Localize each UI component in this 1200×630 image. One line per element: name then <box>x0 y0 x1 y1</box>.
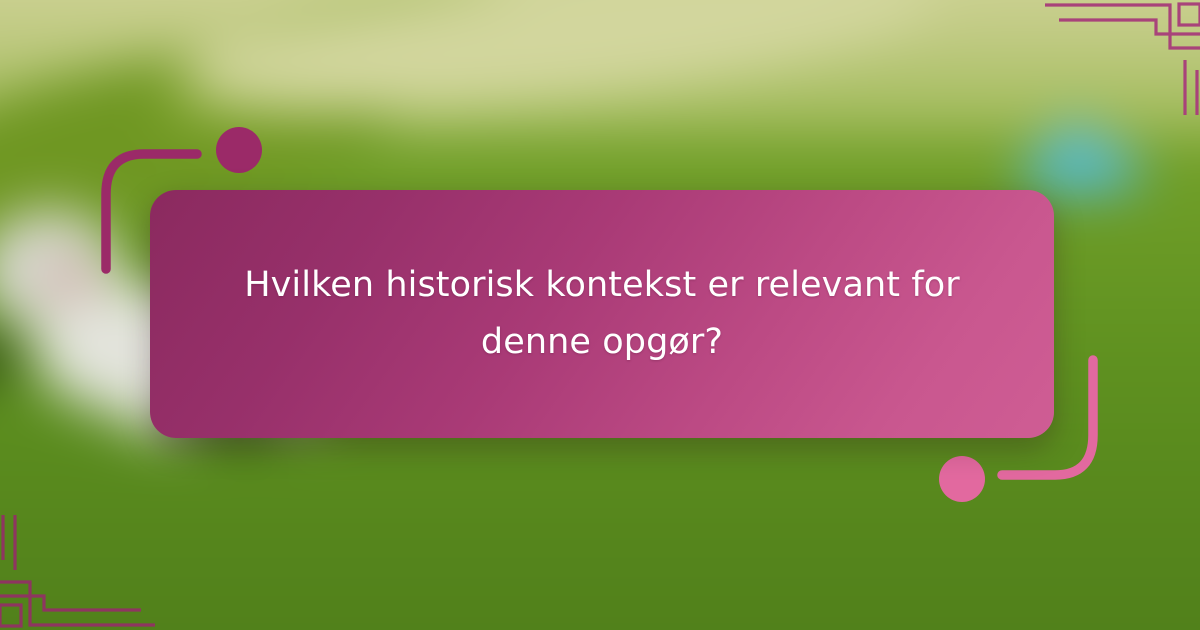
question-text: Hvilken historisk kontekst er relevant f… <box>206 257 998 370</box>
accent-dot-top-left-icon <box>216 127 262 173</box>
background-tent-glow <box>1022 145 1142 193</box>
poster-canvas: Hvilken historisk kontekst er relevant f… <box>0 0 1200 630</box>
question-card: Hvilken historisk kontekst er relevant f… <box>150 190 1054 438</box>
accent-dot-bottom-right-icon <box>939 456 985 502</box>
